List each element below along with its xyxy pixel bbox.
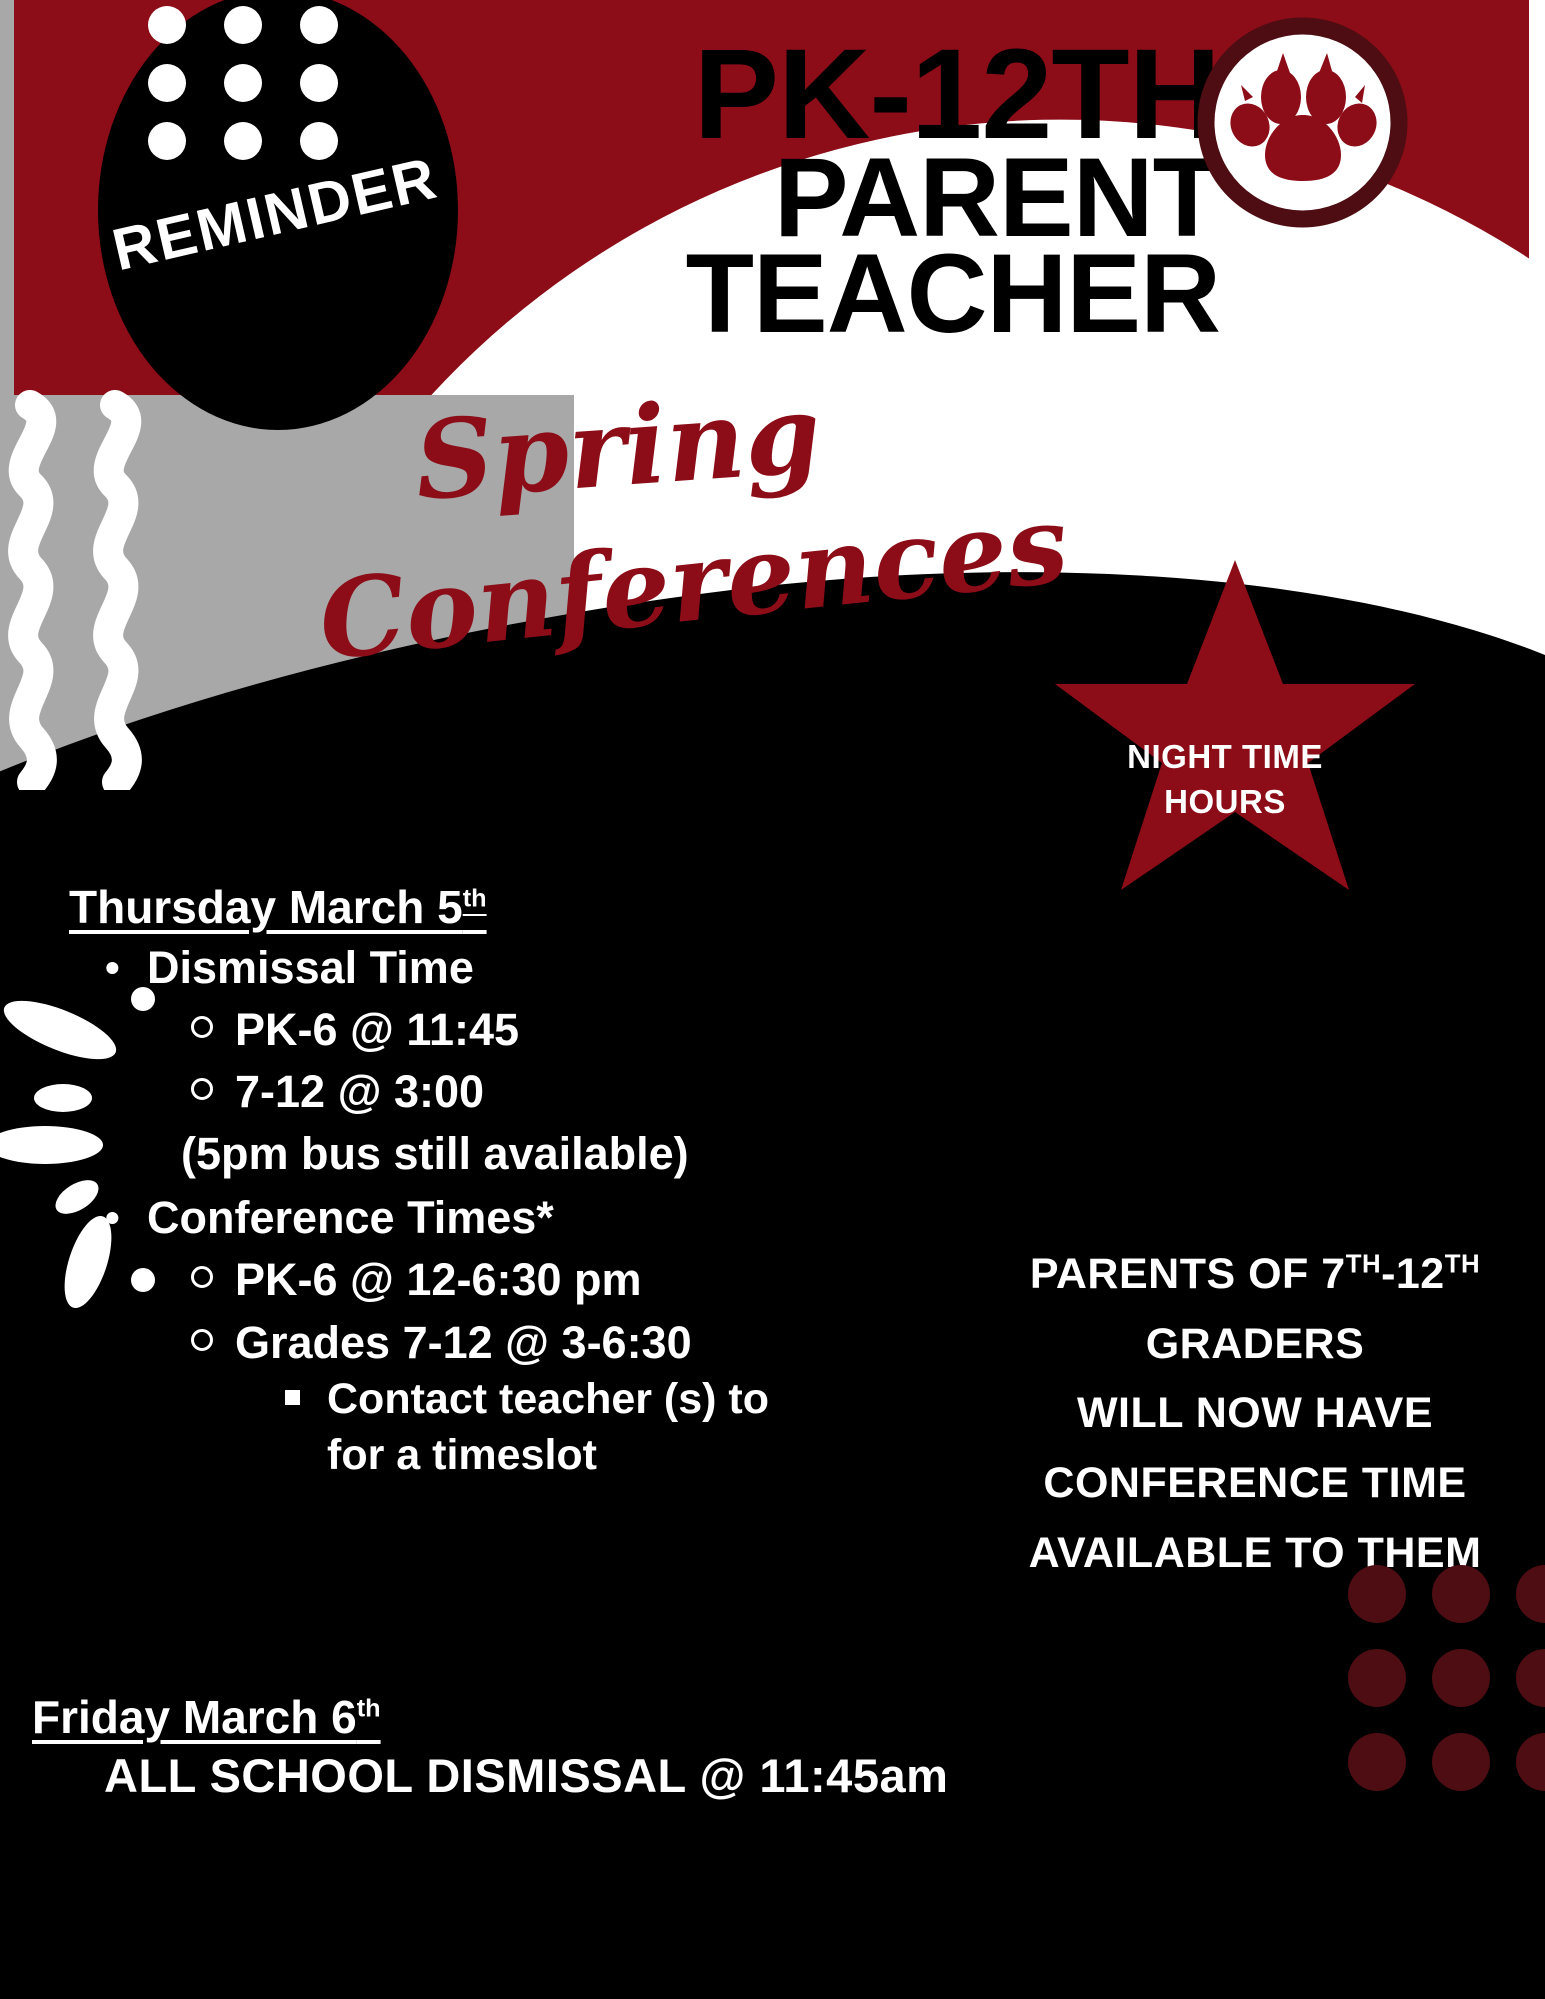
friday-heading-text: Friday March 6 [32, 1691, 357, 1743]
circle-bullet-icon [191, 1078, 213, 1100]
paw-print-icon [1195, 15, 1410, 230]
circle-bullet-icon [191, 1266, 213, 1288]
squiggle-decoration [0, 390, 200, 790]
dismissal-sublist: PK-6 @ 11:45 7-12 @ 3:00 [147, 1001, 935, 1122]
bullet-icon: • [105, 1192, 120, 1245]
notice-line-2: GRADERS [975, 1310, 1535, 1380]
friday-section: Friday March 6th ALL SCHOOL DISMISSAL @ … [32, 1690, 1032, 1803]
friday-heading: Friday March 6th [32, 1690, 1032, 1744]
list-item: PK-6 @ 11:45 [235, 1001, 935, 1060]
page-title: PK-12TH PARENT TEACHER [430, 40, 1220, 343]
list-item: Grades 7-12 @ 3-6:30 Contact teacher (s)… [235, 1314, 935, 1484]
bullet-icon: • [105, 942, 120, 995]
notice-sup-1: TH [1346, 1251, 1381, 1279]
bus-note: (5pm bus still available) [181, 1126, 935, 1183]
contact-teacher-list: Contact teacher (s) to for a timeslot [235, 1372, 935, 1484]
list-item: Contact teacher (s) to for a timeslot [327, 1372, 935, 1484]
dismissal-time-label: Dismissal Time [147, 942, 474, 993]
notice-line-3: WILL NOW HAVE [975, 1379, 1535, 1449]
conference-sub-2: Grades 7-12 @ 3-6:30 [235, 1317, 692, 1368]
circle-bullet-icon [191, 1329, 213, 1351]
star-label: NIGHT TIME HOURS [1075, 735, 1375, 824]
thursday-heading-sup: th [463, 885, 487, 913]
list-item: 7-12 @ 3:00 [235, 1063, 935, 1122]
thursday-section: Thursday March 5th • Dismissal Time PK-6… [55, 880, 935, 1488]
thursday-heading: Thursday March 5th [69, 880, 935, 934]
white-dot-grid [148, 0, 348, 170]
dismissal-sub-1: PK-6 @ 11:45 [235, 1004, 519, 1055]
friday-dismissal: ALL SCHOOL DISMISSAL @ 11:45am [104, 1748, 1032, 1803]
flyer-poster: REMINDER PK-12TH PARENT TEACHER Spring C… [0, 0, 1545, 1999]
star-line-1: NIGHT TIME [1075, 735, 1375, 780]
contact-teacher-line-2: for a timeslot [327, 1431, 597, 1479]
notice-line-1-a: PARENTS OF 7 [1030, 1250, 1346, 1298]
notice-line-4: CONFERENCE TIME [975, 1449, 1535, 1519]
thursday-heading-text: Thursday March 5 [69, 881, 463, 933]
title-line-3: TEACHER [430, 246, 1220, 342]
list-item: • Conference Times* PK-6 @ 12-6:30 pm Gr… [147, 1190, 935, 1483]
notice-sup-2: TH [1445, 1251, 1480, 1279]
title-line-1: PK-12TH [430, 40, 1220, 150]
friday-heading-sup: th [357, 1695, 381, 1723]
notice-line-1: PARENTS OF 7TH-12TH [975, 1240, 1535, 1310]
conference-times-label: Conference Times* [147, 1192, 554, 1243]
list-item: PK-6 @ 12-6:30 pm [235, 1251, 935, 1310]
square-bullet-icon [285, 1390, 300, 1405]
contact-teacher-line-1: Contact teacher (s) to [327, 1375, 769, 1423]
notice-line-1-b: -12 [1381, 1250, 1445, 1298]
notice-block: PARENTS OF 7TH-12TH GRADERS WILL NOW HAV… [975, 1240, 1535, 1588]
star-line-2: HOURS [1075, 780, 1375, 825]
conference-sublist: PK-6 @ 12-6:30 pm Grades 7-12 @ 3-6:30 C… [147, 1251, 935, 1484]
list-item: • Dismissal Time PK-6 @ 11:45 7-12 @ 3:0… [147, 940, 935, 1182]
dismissal-sub-2: 7-12 @ 3:00 [235, 1066, 484, 1117]
conference-sub-1: PK-6 @ 12-6:30 pm [235, 1254, 642, 1305]
thursday-list: • Dismissal Time PK-6 @ 11:45 7-12 @ 3:0… [55, 940, 935, 1484]
dark-dot-grid [1348, 1565, 1545, 1795]
circle-bullet-icon [191, 1016, 213, 1038]
